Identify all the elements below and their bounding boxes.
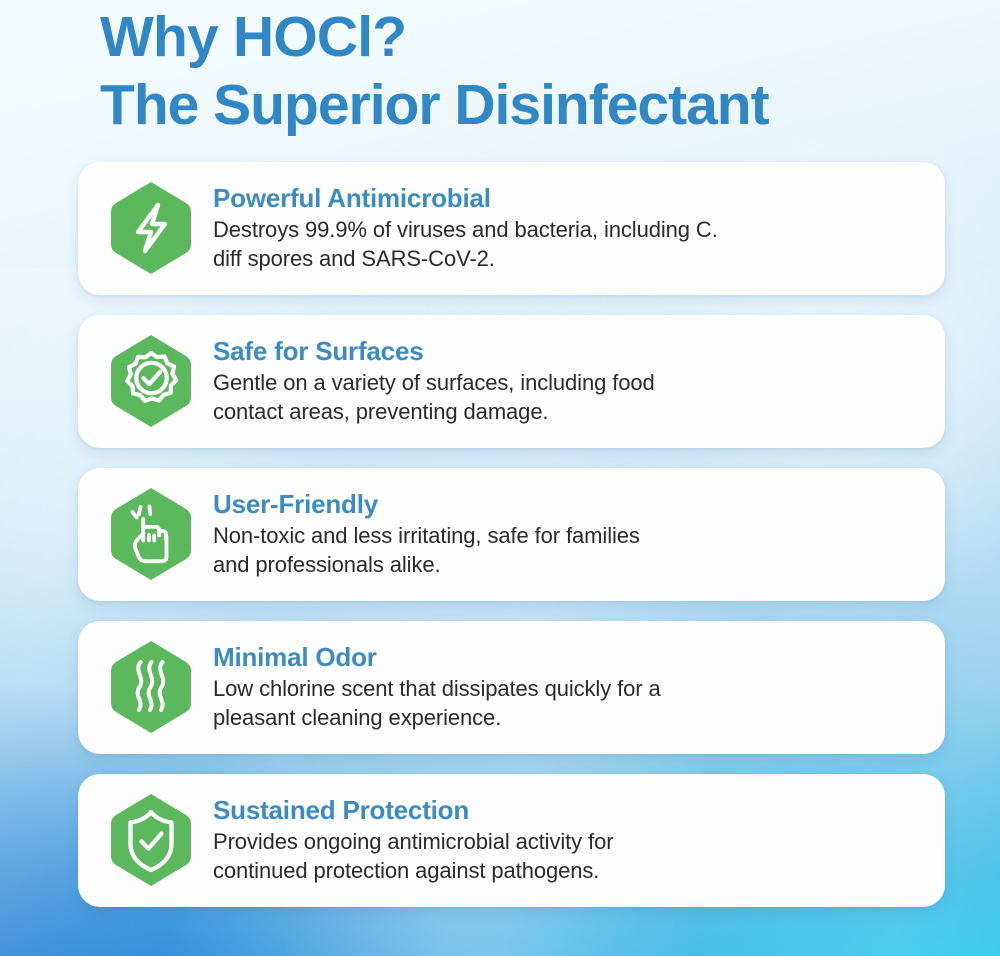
feature-card-text: Safe for Surfaces Gentle on a variety of… [213,336,945,426]
feature-card-description: Gentle on a variety of surfaces, includi… [213,369,931,427]
feature-card-list: Powerful Antimicrobial Destroys 99.9% of… [0,162,1000,907]
feature-card-minimal-odor: Minimal Odor Low chlorine scent that dis… [78,621,945,754]
feature-card-safe-for-surfaces: Safe for Surfaces Gentle on a variety of… [78,315,945,448]
title-line-2: The Superior Disinfectant [100,72,1000,140]
shield-check-icon [105,791,197,889]
feature-card-user-friendly: User-Friendly Non-toxic and less irritat… [78,468,945,601]
infographic-poster: Why HOCl? The Superior Disinfectant Powe… [0,0,1000,956]
feature-card-powerful-antimicrobial: Powerful Antimicrobial Destroys 99.9% of… [78,162,945,295]
feature-card-heading: Powerful Antimicrobial [213,183,931,215]
title-line-1: Why HOCl? [100,4,1000,72]
feature-card-sustained-protection: Sustained Protection Provides ongoing an… [78,774,945,907]
scent-waves-icon [105,638,197,736]
feature-card-description: Provides ongoing antimicrobial activity … [213,828,931,886]
feature-card-heading: Sustained Protection [213,795,931,827]
feature-card-heading: User-Friendly [213,489,931,521]
feature-card-description: Non-toxic and less irritating, safe for … [213,522,931,580]
feature-card-text: Powerful Antimicrobial Destroys 99.9% of… [213,183,945,273]
feature-card-description: Low chlorine scent that dissipates quick… [213,675,931,733]
page-title: Why HOCl? The Superior Disinfectant [0,0,1000,140]
feature-card-description: Destroys 99.9% of viruses and bacteria, … [213,216,931,274]
feature-card-text: Sustained Protection Provides ongoing an… [213,795,945,885]
badge-check-icon [105,332,197,430]
feature-card-heading: Minimal Odor [213,642,931,674]
feature-card-text: User-Friendly Non-toxic and less irritat… [213,489,945,579]
feature-card-heading: Safe for Surfaces [213,336,931,368]
feature-card-text: Minimal Odor Low chlorine scent that dis… [213,642,945,732]
tapping-hand-icon [105,485,197,583]
lightning-bolt-icon [105,179,197,277]
